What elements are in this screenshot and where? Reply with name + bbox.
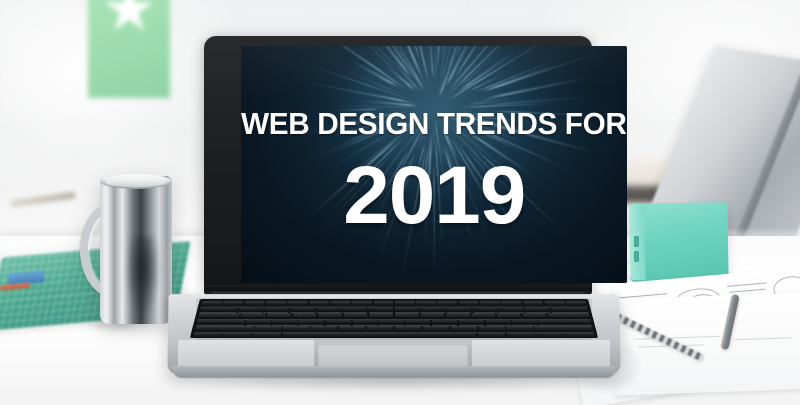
- keyboard-key[interactable]: [193, 331, 222, 338]
- keyboard-key[interactable]: [343, 313, 367, 319]
- keyboard-key[interactable]: [480, 300, 501, 306]
- keyboard-key[interactable]: [287, 300, 308, 306]
- keyboard-key[interactable]: [538, 319, 592, 325]
- slide-content: WEB DESIGN TRENDS FOR 2019: [241, 46, 627, 283]
- laptop: WEB DESIGN TRENDS FOR 2019: [168, 36, 620, 405]
- keyboard-key[interactable]: [272, 319, 298, 325]
- keyboard-key[interactable]: [299, 319, 325, 325]
- keyboard-key[interactable]: [316, 306, 341, 312]
- slide-headline: WEB DESIGN TRENDS FOR: [241, 108, 626, 139]
- keyboard-key[interactable]: [566, 300, 587, 306]
- green-star-poster: [88, 0, 170, 98]
- keyboard-key[interactable]: [238, 306, 264, 312]
- keyboard-key[interactable]: [507, 331, 536, 338]
- keyboard-row: [195, 313, 593, 319]
- speaker-button-down[interactable]: [634, 251, 639, 262]
- sketch-stroke: [634, 336, 720, 340]
- keyboard-row: [198, 300, 590, 306]
- keyboard-key[interactable]: [544, 300, 565, 306]
- keyboard-key[interactable]: [416, 300, 436, 306]
- keyboard-key[interactable]: [395, 313, 419, 319]
- keyboard-key[interactable]: [395, 306, 420, 312]
- sketch-stroke: [729, 289, 765, 293]
- keyboard-key[interactable]: [420, 313, 444, 319]
- keyboard-key[interactable]: [432, 319, 457, 325]
- keyboard-key[interactable]: [240, 313, 265, 319]
- keyboard-key[interactable]: [502, 300, 523, 306]
- chrome-mug: [82, 176, 172, 326]
- keyboard-key[interactable]: [369, 313, 393, 319]
- keyboard-key[interactable]: [292, 313, 317, 319]
- keyboard-key[interactable]: [473, 306, 498, 312]
- keyboard-key[interactable]: [438, 300, 458, 306]
- keyboard-key[interactable]: [266, 300, 287, 306]
- keyboard-key[interactable]: [522, 313, 547, 319]
- speaker-button-up[interactable]: [634, 236, 639, 247]
- keyboard-key[interactable]: [447, 306, 472, 312]
- keyboard-key[interactable]: [369, 306, 394, 312]
- hero-banner-scene: Landing page WEB DESIGN TRENDS FOR 2019: [0, 0, 800, 405]
- keyboard-key[interactable]: [485, 319, 511, 325]
- laptop-base-front: [172, 366, 616, 378]
- keyboard-key[interactable]: [498, 306, 523, 312]
- keyboard-key[interactable]: [244, 300, 265, 306]
- keyboard-key[interactable]: [245, 319, 271, 325]
- keyboard-key[interactable]: [523, 300, 544, 306]
- keyboard-key[interactable]: [471, 313, 496, 319]
- keyboard-row: [193, 319, 595, 325]
- keyboard-key[interactable]: [223, 331, 252, 338]
- keyboard-key[interactable]: [252, 331, 281, 338]
- keyboard-key[interactable]: [406, 319, 431, 325]
- keyboard-row: [190, 331, 598, 338]
- keyboard-key[interactable]: [200, 306, 238, 312]
- keyboard-key[interactable]: [201, 300, 222, 306]
- keyboard-key[interactable]: [198, 313, 240, 319]
- keyboard-key[interactable]: [223, 300, 244, 306]
- keyboard-key[interactable]: [342, 306, 367, 312]
- laptop-keyboard[interactable]: [190, 299, 598, 338]
- keyboard-key[interactable]: [266, 313, 291, 319]
- keyboard-key[interactable]: [421, 306, 446, 312]
- keyboard-key[interactable]: [379, 319, 404, 325]
- keyboard-key[interactable]: [459, 300, 479, 306]
- mug-rim-inner: [106, 178, 166, 187]
- keyboard-key[interactable]: [566, 331, 595, 338]
- keyboard-key[interactable]: [290, 306, 315, 312]
- keyboard-key[interactable]: [326, 319, 351, 325]
- keyboard-key[interactable]: [373, 300, 393, 306]
- slide-year: 2019: [343, 155, 525, 237]
- keyboard-key[interactable]: [264, 306, 289, 312]
- keyboard-key[interactable]: [550, 306, 588, 312]
- keyboard-row: [196, 306, 591, 312]
- sketch-paper-bottom: [612, 293, 800, 396]
- keyboard-key[interactable]: [511, 319, 537, 325]
- keyboard-key[interactable]: [524, 306, 550, 312]
- keyboard-key[interactable]: [459, 319, 485, 325]
- keyboard-key[interactable]: [309, 300, 329, 306]
- laptop-lid: WEB DESIGN TRENDS FOR 2019: [204, 36, 592, 288]
- mug-reflection: [126, 236, 160, 316]
- keyboard-key[interactable]: [330, 300, 350, 306]
- sketch-stroke: [727, 282, 767, 286]
- keyboard-key[interactable]: [318, 313, 343, 319]
- keyboard-key[interactable]: [282, 331, 476, 338]
- keyboard-key[interactable]: [536, 331, 565, 338]
- keyboard-key[interactable]: [352, 319, 377, 325]
- laptop-screen[interactable]: WEB DESIGN TRENDS FOR 2019: [241, 46, 627, 283]
- keyboard-key[interactable]: [497, 313, 522, 319]
- keyboard-key[interactable]: [477, 331, 506, 338]
- keyboard-key[interactable]: [352, 300, 372, 306]
- keyboard-key[interactable]: [446, 313, 471, 319]
- keyboard-key[interactable]: [548, 313, 590, 319]
- keyboard-key[interactable]: [395, 300, 415, 306]
- sketch-stroke: [734, 337, 792, 340]
- keyboard-key[interactable]: [196, 319, 245, 325]
